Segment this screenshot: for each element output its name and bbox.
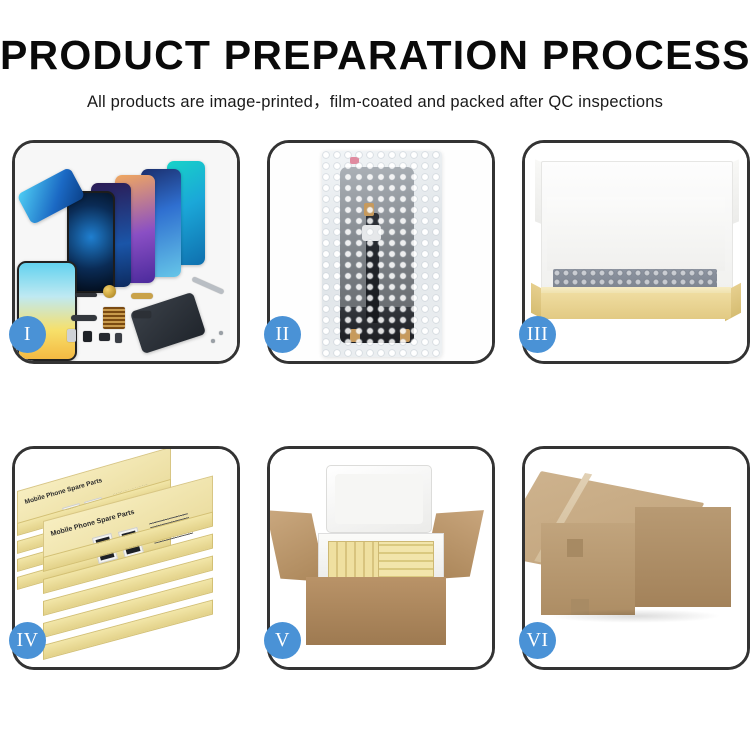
bubble-wrap-bag [322,151,442,357]
screw-part-2 [219,331,223,335]
camera-module-part [83,331,92,342]
flex-strip-part [75,293,97,297]
sim-tray-part [67,329,76,342]
page-title: PRODUCT PREPARATION PROCESS [0,34,750,77]
step-badge-4: IV [9,622,46,659]
flex-cable-part-2 [131,293,153,299]
speaker-part [99,333,110,341]
panel-photo-stacked-retail-boxes: Mobile Phone Spare Parts Mobile Phone Sp… [15,449,237,667]
foam-sheet [547,197,725,271]
panel-photo-raw-parts [15,143,237,361]
box-front-panel [541,293,731,319]
foam-lid-inner-face [335,474,423,524]
panel-photo-bubble-wrapped-screen [270,143,492,361]
process-step-panel-1: I [12,140,240,364]
vibrator-coin-part [103,285,116,298]
button-part [115,333,122,343]
flex-cable-part-1 [71,315,97,321]
process-step-panel-3: III [522,140,750,364]
carton-tape-mark-1 [567,539,583,557]
step-badge-6: VI [519,622,556,659]
process-step-panel-2: II [267,140,495,364]
bubble-texture-overlay [322,151,442,357]
step-badge-5: V [264,622,301,659]
process-step-panel-5: V [267,446,495,670]
page-subtitle: All products are image-printed，film-coat… [0,88,750,112]
connector-grid-part [103,307,125,329]
step-badge-2: II [264,316,301,353]
step-badge-1: I [9,316,46,353]
panel-photo-sealed-shipping-carton [525,449,747,667]
panel-photo-foam-carton-loading [270,449,492,667]
carton-drop-shadow [549,609,721,623]
panel-photo-inner-box-packing [525,143,747,361]
screw-part-1 [211,339,215,343]
step-badge-3: III [519,316,556,353]
foam-cooler-lid [326,465,432,533]
process-step-grid: I II [12,140,740,670]
box-stack-group: Mobile Phone Spare Parts Mobile Phone Sp… [15,449,237,667]
page-header: PRODUCT PREPARATION PROCESS All products… [0,0,750,112]
carton-front-panel [306,577,446,645]
flex-cable-part-3 [133,311,151,318]
process-step-panel-6: VI [522,446,750,670]
carton-right-face [635,507,731,607]
process-step-panel-4: Mobile Phone Spare Parts Mobile Phone Sp… [12,446,240,670]
